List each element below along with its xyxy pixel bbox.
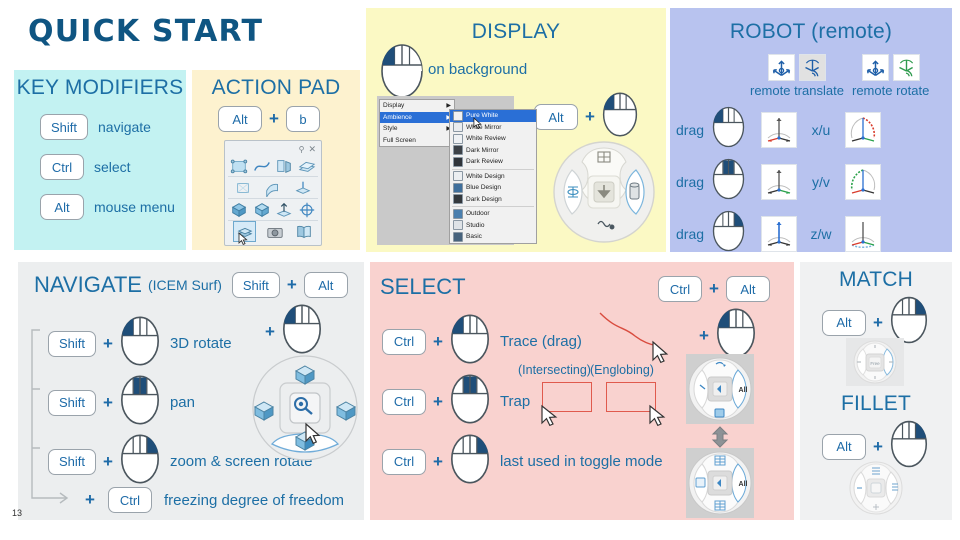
menu-item[interactable]: Dark Mirror [450, 145, 536, 157]
robot-remote-translate-label: remote translate [750, 83, 844, 98]
display-context-menu-left[interactable]: Display ▶ Ambience ▶ Style ▶ Full Screen [379, 99, 455, 147]
trim-icon[interactable] [234, 179, 252, 197]
menu-item-label: Full Screen [383, 137, 416, 144]
select-row-label: Trap [500, 393, 530, 410]
toggle-arrow-icon [710, 426, 730, 448]
action-pad-toolbar[interactable]: ⚲ ✕ [224, 140, 322, 246]
cursor-arrow-icon [648, 404, 666, 428]
plus-sign: + [103, 452, 113, 472]
b-key[interactable]: b [286, 106, 320, 132]
menu-item[interactable]: Dark Design [450, 194, 536, 206]
plus-sign: + [265, 322, 275, 342]
menu-item-label: White Design [466, 173, 505, 180]
display-context-menu-backdrop: Display ▶ Ambience ▶ Style ▶ Full Screen [377, 96, 514, 245]
menu-item[interactable]: Display ▶ [380, 100, 454, 112]
menu-item-label: Dark Review [466, 158, 503, 165]
menu-item-selected[interactable]: Pure White [450, 110, 536, 122]
navigate-header: NAVIGATE (ICEM Surf) Shift + Alt [34, 272, 348, 298]
robot-title: ROBOT (remote) [670, 8, 952, 44]
action-pad-row [228, 177, 318, 199]
axis-translate-icon[interactable] [768, 54, 795, 81]
sweep-icon[interactable] [298, 157, 316, 175]
white-mirror-swatch-icon [453, 122, 463, 132]
key-modifiers-title: KEY MODIFIERS [14, 70, 186, 100]
plus-sign: + [269, 109, 279, 129]
panel-navigate: NAVIGATE (ICEM Surf) Shift + Alt + [18, 262, 364, 520]
match-widget[interactable]: Free [846, 338, 904, 391]
alt-key[interactable]: Alt [534, 104, 578, 130]
menu-item-label: Dark Mirror [466, 147, 499, 154]
alt-key[interactable]: Alt [726, 276, 770, 302]
navigate-bracket [26, 322, 86, 512]
select-mode-widget-bottom[interactable]: All [686, 448, 754, 518]
menu-item[interactable]: Dark Review [450, 156, 536, 168]
menu-item-label: Blue Design [466, 184, 501, 191]
extrude-icon[interactable] [275, 157, 293, 175]
robot-axis-translate-z-icon [761, 216, 797, 252]
action-pad-shortcut: Alt + b [218, 106, 320, 132]
alt-key[interactable]: Alt [304, 272, 348, 298]
panel-key-modifiers: KEY MODIFIERS Shift navigate Ctrl select… [14, 70, 186, 250]
menu-item-label: Display [383, 102, 404, 109]
select-row: Ctrl + last used in toggle mode [382, 434, 663, 489]
navigate-row-label: 3D rotate [170, 335, 232, 352]
outdoor-swatch-icon [453, 209, 463, 219]
key-modifier-label: select [94, 159, 131, 175]
menu-item[interactable]: White Mirror [450, 122, 536, 134]
robot-drag-label: drag [676, 226, 712, 242]
mouse-left-button-icon [120, 316, 160, 371]
navigate-subtitle: (ICEM Surf) [148, 277, 222, 293]
mouse-middle-button-icon [120, 375, 160, 430]
menu-item-label: Basic [466, 233, 482, 240]
panel-robot: ROBOT (remote) [670, 8, 952, 252]
navigate-footer-label: freezing degree of freedom [164, 492, 344, 509]
action-pad-title: ACTION PAD [192, 70, 360, 100]
ctrl-key[interactable]: Ctrl [382, 329, 426, 355]
select-header-keys: Ctrl + Alt [658, 276, 770, 302]
plus-sign: + [873, 437, 883, 457]
page-number: 13 [12, 508, 22, 518]
plus-sign: + [433, 392, 443, 412]
robot-axis-rotate-z-icon [845, 216, 881, 252]
project-icon[interactable] [294, 179, 312, 197]
dark-mirror-swatch-icon [453, 145, 463, 155]
plus-sign: + [433, 332, 443, 352]
mouse-middle-button-icon [450, 374, 490, 429]
match-title: MATCH [800, 262, 952, 292]
key-modifier-label: mouse menu [94, 199, 175, 215]
plus-sign: + [287, 275, 297, 295]
navigate-row-label: pan [170, 394, 195, 411]
select-widget-all-label: All [739, 387, 748, 394]
alt-key[interactable]: Alt [40, 194, 84, 220]
dark-design-swatch-icon [453, 194, 463, 204]
ctrl-key[interactable]: Ctrl [382, 389, 426, 415]
menu-item-label: Outdoor [466, 210, 490, 217]
robot-axis-label: z/w [797, 226, 845, 242]
book-icon[interactable] [295, 223, 313, 241]
menu-item[interactable]: Outdoor [450, 208, 536, 220]
menu-item[interactable]: Studio [450, 220, 536, 232]
display-compass[interactable] [552, 140, 656, 249]
menu-item-label: Studio [466, 222, 484, 229]
select-title: SELECT [380, 274, 466, 300]
key-modifier-label: navigate [98, 119, 151, 135]
menu-item[interactable]: White Review [450, 133, 536, 145]
display-mouse-right [602, 92, 638, 142]
camera-icon[interactable] [266, 223, 284, 241]
mouse-right-button-icon [712, 210, 745, 257]
plus-sign: + [85, 490, 95, 510]
robot-drag-label: drag [676, 122, 712, 138]
dark-review-swatch-icon [453, 157, 463, 167]
action-pad-row [228, 155, 318, 177]
key-modifier-row: Shift navigate [40, 114, 175, 140]
pure-white-swatch-icon [453, 111, 463, 121]
robot-remote-rotate-group: remote rotate [852, 54, 929, 98]
fillet-icon[interactable] [264, 179, 282, 197]
robot-axis-translate-x-icon [761, 112, 797, 148]
select-row-label: last used in toggle mode [500, 453, 663, 470]
action-pad-row [228, 199, 318, 221]
menu-item[interactable]: Basic [450, 231, 536, 243]
cursor-arrow-icon [238, 232, 249, 246]
target-icon[interactable] [298, 201, 316, 219]
mouse-right-button-icon [450, 434, 490, 489]
curve-icon[interactable] [253, 157, 271, 175]
robot-axis-rotate-x-icon [845, 112, 881, 148]
basic-swatch-icon [453, 232, 463, 242]
alt-key[interactable]: Alt [822, 434, 866, 460]
robot-axis-rotate-y-icon [845, 164, 881, 200]
robot-row: drag x/u [676, 106, 881, 153]
menu-item[interactable]: Blue Design [450, 182, 536, 194]
key-modifier-row: Alt mouse menu [40, 194, 175, 220]
select-mode-widget-top[interactable]: All [686, 354, 754, 424]
blue-design-swatch-icon [453, 183, 463, 193]
menu-separator [452, 169, 534, 170]
robot-drag-label: drag [676, 174, 712, 190]
cursor-arrow-icon [473, 117, 483, 130]
menu-item-label: White Mirror [466, 124, 501, 131]
key-modifier-row: Ctrl select [40, 154, 175, 180]
robot-axis-label: x/u [797, 122, 845, 138]
mouse-middle-button-icon [712, 158, 745, 205]
robot-row: drag z/w [676, 210, 881, 257]
panel-action-pad: ACTION PAD Alt + b ⚲ ✕ [192, 70, 360, 250]
panel-select: SELECT Ctrl + Alt + Ctrl + [370, 262, 794, 520]
menu-item-label: Ambience [383, 114, 412, 121]
menu-item[interactable]: Full Screen [380, 135, 454, 147]
select-row-label: Trace (drag) [500, 333, 582, 350]
display-mouse-right [380, 44, 424, 103]
display-on-background-label: on background [428, 61, 527, 78]
menu-item-label: Dark Design [466, 196, 502, 203]
quick-start-slide: QUICK START KEY MODIFIERS Shift navigate… [0, 0, 960, 540]
axis-translate-remote-icon[interactable] [799, 54, 826, 81]
select-row: Ctrl + Trace (drag) [382, 314, 582, 369]
cursor-arrow-icon [540, 404, 558, 428]
plus-sign: + [103, 393, 113, 413]
menu-item-label: Style [383, 125, 397, 132]
ctrl-key[interactable]: Ctrl [658, 276, 702, 302]
robot-axis-translate-y-icon [761, 164, 797, 200]
mouse-left-button-icon [450, 314, 490, 369]
select-row: Ctrl + Trap [382, 374, 530, 429]
solid-cube-icon[interactable] [230, 201, 248, 219]
close-icon[interactable]: ✕ [308, 145, 316, 154]
menu-item-label: White Review [466, 135, 506, 142]
robot-row: drag y/v [676, 158, 881, 205]
ctrl-key[interactable]: Ctrl [40, 154, 84, 180]
navigate-header-mouse: + [258, 304, 322, 359]
alt-key[interactable]: Alt [218, 106, 262, 132]
white-review-swatch-icon [453, 134, 463, 144]
shift-key[interactable]: Shift [232, 272, 280, 298]
fillet-title: FILLET [800, 392, 952, 416]
display-submenu-ambience[interactable]: Pure White White Mirror White Review Dar… [449, 109, 537, 244]
plus-sign: + [873, 313, 883, 333]
navigate-compass-widget[interactable] [246, 352, 364, 469]
action-pad-row [228, 221, 318, 242]
plus-sign: + [433, 452, 443, 472]
mouse-left-button-icon [712, 106, 745, 153]
studio-swatch-icon [453, 220, 463, 230]
page-title: QUICK START [28, 14, 263, 49]
axis-rotate-remote-icon[interactable] [893, 54, 920, 81]
axis-rotate-icon[interactable] [862, 54, 889, 81]
plus-sign: + [585, 107, 595, 127]
alt-key[interactable]: Alt [822, 310, 866, 336]
plus-sign: + [103, 334, 113, 354]
display-title: DISPLAY [366, 8, 666, 44]
select-widget-all-label: All [739, 481, 748, 488]
ctrl-key[interactable]: Ctrl [108, 487, 152, 513]
extrude-up-icon[interactable] [275, 201, 293, 219]
display-alt-shortcut: Alt + [534, 92, 638, 142]
trap-intersecting-label: (Intersecting) [518, 363, 591, 377]
robot-remote-translate-group: remote translate [750, 54, 844, 98]
fillet-widget[interactable] [848, 460, 904, 521]
svg-text:Free: Free [870, 361, 880, 366]
plus-sign: + [709, 279, 719, 299]
panel-match-fillet: MATCH Alt + [800, 262, 952, 520]
navigate-title: NAVIGATE [34, 272, 142, 298]
mouse-left-button-icon [282, 304, 322, 359]
navigate-footer: + Ctrl freezing degree of freedom [78, 487, 344, 513]
white-design-swatch-icon [453, 171, 463, 181]
menu-item[interactable]: White Design [450, 171, 536, 183]
surface-patch-icon[interactable] [230, 157, 248, 175]
menu-item[interactable]: Style ▶ [380, 123, 454, 135]
menu-separator [452, 206, 534, 207]
mouse-right-button-icon [120, 434, 160, 489]
shift-key[interactable]: Shift [40, 114, 88, 140]
trap-englobing-label: (Englobing) [590, 363, 654, 377]
robot-axis-label: y/v [797, 174, 845, 190]
menu-item-selected[interactable]: Ambience ▶ [380, 112, 454, 124]
shaded-cube-icon[interactable] [253, 201, 271, 219]
pin-icon[interactable]: ⚲ [299, 145, 305, 154]
ctrl-key[interactable]: Ctrl [382, 449, 426, 475]
robot-remote-rotate-label: remote rotate [852, 83, 929, 98]
